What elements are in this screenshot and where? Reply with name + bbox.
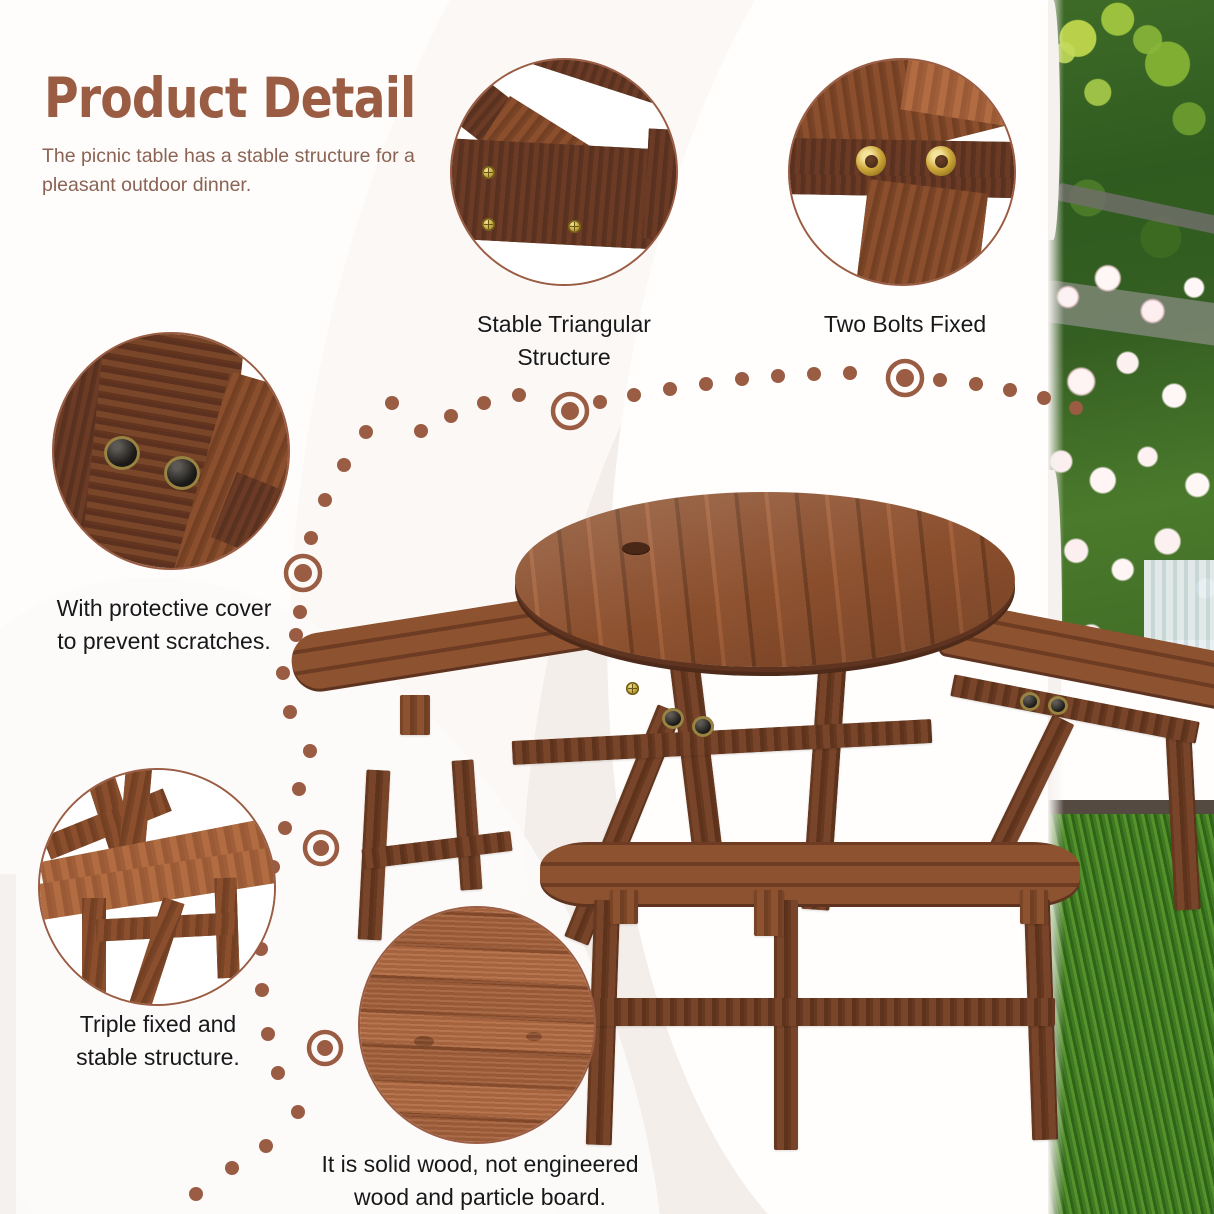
- caption-line-2: to prevent scratches.: [14, 625, 314, 658]
- dot-icon: [663, 382, 677, 396]
- dot-icon: [735, 372, 749, 386]
- dot-icon: [385, 396, 399, 410]
- dot-icon: [627, 388, 641, 402]
- dot-icon: [1069, 401, 1083, 415]
- protective-cap-left: [104, 436, 140, 470]
- bench-front-seat-support-center: [754, 890, 784, 936]
- dot-icon: [933, 373, 947, 387]
- detail-label-triple-fixed: Triple fixed and stable structure.: [18, 1008, 298, 1073]
- dot-icon: [512, 388, 526, 402]
- caption-line-1: Stable Triangular: [414, 308, 714, 341]
- plank-right-edge: [643, 129, 678, 242]
- screw-lower-center: [568, 220, 581, 233]
- diagonal-leg: [852, 179, 988, 286]
- bolt-cap-right-2: [1048, 696, 1068, 715]
- bench-diagonal-brace: [130, 897, 185, 1006]
- dot-icon: [807, 367, 821, 381]
- table-top-sheen: [515, 492, 1015, 667]
- caption-line-1: Triple fixed and: [18, 1008, 298, 1041]
- plank-diagonal-top: [498, 58, 678, 108]
- dot-icon: [593, 395, 607, 409]
- bench-front-seat-support-right: [1020, 890, 1048, 924]
- detail-photo-protective-cover: [52, 332, 290, 570]
- detail-label-solid-wood: It is solid wood, not engineered wood an…: [245, 1148, 715, 1213]
- detail-label-protective-cover: With protective cover to prevent scratch…: [14, 592, 314, 657]
- dot-icon: [444, 409, 458, 423]
- detail-circle-protective-cover: [52, 332, 290, 570]
- center-screw: [626, 682, 639, 695]
- bolt-cap-center-1: [662, 708, 684, 729]
- dot-icon: [477, 396, 491, 410]
- detail-circle-solid-wood: [358, 906, 596, 1144]
- caption-line-1: It is solid wood, not engineered: [245, 1148, 715, 1181]
- bench-front-cross-brace: [590, 998, 1055, 1026]
- bench-front-seat-support-left: [610, 890, 638, 924]
- dot-icon: [359, 425, 373, 439]
- dot-icon: [189, 1187, 203, 1201]
- umbrella-hole: [622, 542, 650, 555]
- dot-icon: [843, 366, 857, 380]
- dot-icon: [225, 1161, 239, 1175]
- detail-circle-stable-triangular-structure: [450, 58, 678, 286]
- infographic-canvas: Product Detail The picnic table has a st…: [0, 0, 1214, 1214]
- detail-circle-two-bolts-fixed: [788, 58, 1016, 286]
- caption-line-2: stable structure.: [18, 1041, 298, 1074]
- bolt-cap-right-1: [1020, 692, 1040, 711]
- detail-photo-two-bolts: [788, 58, 1016, 286]
- detail-circle-triple-fixed: [38, 768, 276, 1006]
- dot-icon: [699, 377, 713, 391]
- detail-label-stable-triangular-structure: Stable Triangular Structure: [414, 308, 714, 373]
- photo-edge-notch-bottom: [0, 874, 16, 1214]
- screw-upper-left: [482, 166, 495, 179]
- bench-left-seat-support: [400, 695, 430, 735]
- caption-line-2: Structure: [414, 341, 714, 374]
- caption-line-1: With protective cover: [14, 592, 314, 625]
- table-horizontal-stretcher: [512, 719, 933, 765]
- protective-cap-right: [164, 456, 200, 490]
- bolt-left: [856, 146, 886, 176]
- bench-right-leg-outer: [1165, 729, 1200, 910]
- detail-photo-triangular-structure: [450, 58, 678, 286]
- caption-line-1: Two Bolts Fixed: [760, 308, 1050, 341]
- detail-photo-solid-wood: [358, 906, 596, 1144]
- detail-photo-triple-fixed: [38, 768, 276, 1006]
- detail-label-two-bolts-fixed: Two Bolts Fixed: [760, 308, 1050, 341]
- bench-leg-left: [82, 898, 106, 1006]
- dot-icon: [1003, 383, 1017, 397]
- ring-marker-icon: [553, 394, 587, 428]
- caption-line-2: wood and particle board.: [245, 1181, 715, 1214]
- bolt-cap-center-2: [692, 716, 714, 737]
- dot-icon: [414, 424, 428, 438]
- screw-lower-left: [482, 218, 495, 231]
- dot-icon: [969, 377, 983, 391]
- dot-icon: [771, 369, 785, 383]
- bolt-right: [926, 146, 956, 176]
- table-top: [515, 492, 1015, 667]
- dot-icon: [1037, 391, 1051, 405]
- bench-left-leg-inner: [451, 759, 482, 890]
- ring-marker-icon: [888, 361, 922, 395]
- wood-grain-overlay: [358, 906, 596, 1144]
